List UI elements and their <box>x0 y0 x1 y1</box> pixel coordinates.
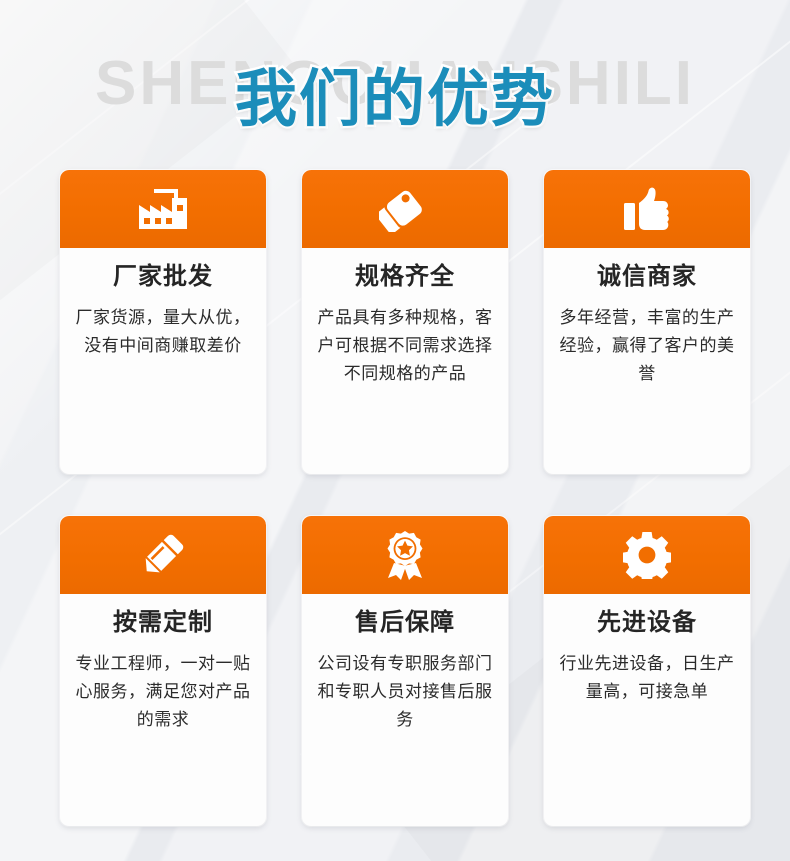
card-body: 厂家批发 厂家货源，量大从优，没有中间商赚取差价 <box>60 248 266 474</box>
card-description: 厂家货源，量大从优，没有中间商赚取差价 <box>72 304 254 360</box>
card-body: 售后保障 公司设有专职服务部门和专职人员对接售后服务 <box>302 594 508 826</box>
advantage-card[interactable]: 按需定制 专业工程师，一对一贴心服务，满足您对产品的需求 <box>60 516 266 826</box>
card-body: 先进设备 行业先进设备，日生产量高，可接急单 <box>544 594 750 826</box>
advantages-page: SHENGCHANSHILI 我们的优势 <box>0 0 790 861</box>
page-title: 我们的优势 <box>0 48 790 138</box>
card-description: 行业先进设备，日生产量高，可接急单 <box>556 650 738 706</box>
pencil-icon <box>139 531 187 579</box>
card-icon-header <box>60 516 266 594</box>
card-description: 专业工程师，一对一贴心服务，满足您对产品的需求 <box>72 650 254 734</box>
award-ribbon-icon <box>380 530 430 580</box>
card-icon-header <box>60 170 266 248</box>
card-icon-header <box>302 516 508 594</box>
card-title: 按需定制 <box>72 610 254 636</box>
thumbs-up-icon <box>623 186 671 232</box>
section-heading: SHENGCHANSHILI 我们的优势 <box>0 22 790 142</box>
advantage-card[interactable]: 先进设备 行业先进设备，日生产量高，可接急单 <box>544 516 750 826</box>
card-title: 售后保障 <box>314 610 496 636</box>
card-body: 按需定制 专业工程师，一对一贴心服务，满足您对产品的需求 <box>60 594 266 826</box>
card-title: 诚信商家 <box>556 264 738 290</box>
card-title: 先进设备 <box>556 610 738 636</box>
card-icon-header <box>544 516 750 594</box>
card-body: 诚信商家 多年经营，丰富的生产经验，赢得了客户的美誉 <box>544 248 750 474</box>
advantage-card-grid: 厂家批发 厂家货源，量大从优，没有中间商赚取差价 <box>60 170 750 826</box>
card-description: 产品具有多种规格，客户可根据不同需求选择不同规格的产品 <box>314 304 496 388</box>
card-title: 规格齐全 <box>314 264 496 290</box>
card-icon-header <box>544 170 750 248</box>
card-description: 多年经营，丰富的生产经验，赢得了客户的美誉 <box>556 304 738 388</box>
advantage-card[interactable]: 诚信商家 多年经营，丰富的生产经验，赢得了客户的美誉 <box>544 170 750 474</box>
card-description: 公司设有专职服务部门和专职人员对接售后服务 <box>314 650 496 734</box>
card-body: 规格齐全 产品具有多种规格，客户可根据不同需求选择不同规格的产品 <box>302 248 508 474</box>
advantage-card[interactable]: 厂家批发 厂家货源，量大从优，没有中间商赚取差价 <box>60 170 266 474</box>
advantage-card[interactable]: 售后保障 公司设有专职服务部门和专职人员对接售后服务 <box>302 516 508 826</box>
advantage-card[interactable]: 规格齐全 产品具有多种规格，客户可根据不同需求选择不同规格的产品 <box>302 170 508 474</box>
gear-icon <box>623 531 671 579</box>
factory-icon <box>137 188 189 230</box>
price-tag-icon <box>379 186 431 232</box>
card-icon-header <box>302 170 508 248</box>
card-title: 厂家批发 <box>72 264 254 290</box>
